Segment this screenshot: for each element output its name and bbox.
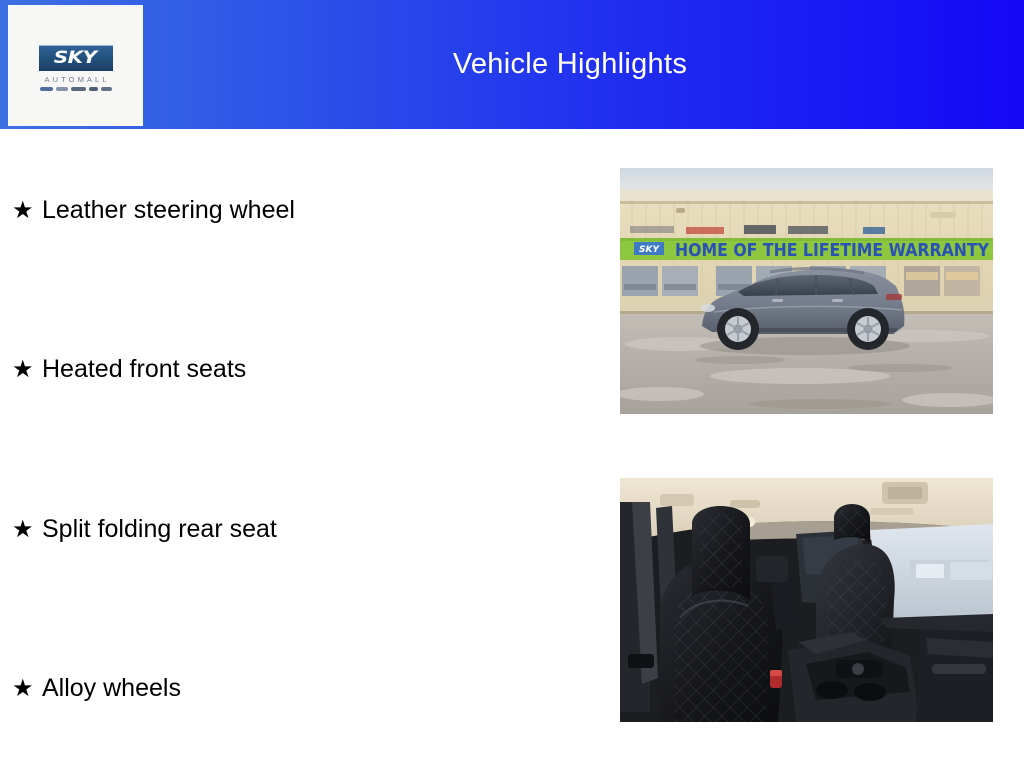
star-bullet-icon: ★	[12, 677, 42, 701]
star-bullet-icon: ★	[12, 358, 42, 382]
sky-logo-text: SKY	[54, 48, 97, 68]
svg-text:SKY: SKY	[639, 245, 660, 255]
list-item: ★ Leather steering wheel	[12, 191, 295, 231]
star-bullet-icon: ★	[12, 199, 42, 223]
page-title: Vehicle Highlights	[170, 0, 970, 129]
dodge-brand-icon	[56, 87, 68, 91]
sky-brand-icon	[101, 87, 112, 91]
brand-marks-row	[40, 87, 112, 91]
highlight-label: Alloy wheels	[42, 675, 181, 703]
list-item: ★ Split folding rear seat	[12, 510, 277, 550]
ram-brand-icon	[89, 87, 98, 91]
dealer-logo: SKY AUTOMALL	[39, 45, 113, 91]
interior-photo-graphic	[620, 478, 993, 722]
exterior-photo-graphic: SKY HOME OF THE LIFETIME WARRANTY	[620, 168, 993, 414]
automall-subtitle: AUTOMALL	[41, 75, 109, 84]
star-bullet-icon: ★	[12, 518, 42, 542]
highlight-label: Leather steering wheel	[42, 197, 295, 225]
vehicle-exterior-photo[interactable]: SKY HOME OF THE LIFETIME WARRANTY	[620, 168, 993, 414]
vehicle-interior-photo[interactable]	[620, 478, 993, 722]
jeep-brand-icon	[71, 87, 86, 91]
dealer-logo-card[interactable]: SKY AUTOMALL	[8, 5, 143, 126]
highlight-label: Heated front seats	[42, 356, 246, 384]
highlights-list: ★ Leather steering wheel ★ Heated front …	[0, 129, 600, 768]
sky-logo-plate: SKY	[39, 45, 113, 71]
list-item: ★ Heated front seats	[12, 350, 246, 390]
chrysler-brand-icon	[40, 87, 53, 91]
list-item: ★ Alloy wheels	[12, 669, 181, 709]
svg-text:HOME OF THE LIFETIME WARRANTY: HOME OF THE LIFETIME WARRANTY	[675, 241, 989, 261]
highlight-label: Split folding rear seat	[42, 516, 277, 544]
header-band: Vehicle Highlights	[0, 0, 1024, 129]
